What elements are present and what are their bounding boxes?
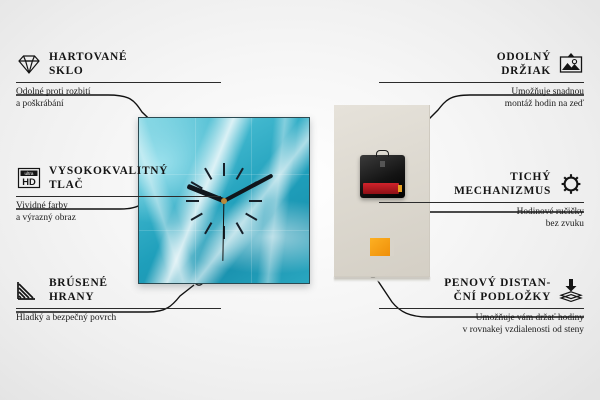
callout-divider (379, 308, 584, 309)
callout-title-line2: HRANY (49, 291, 94, 303)
callout-title-line1: ODOLNÝ (497, 51, 551, 63)
callout-desc-line1: Odolné proti rozbití (16, 87, 90, 97)
callout-durable-hanger: ODOLNÝ DRŽIAK Umožňuje snadnou montáž ho… (379, 50, 584, 110)
callout-title-line2: ČNÍ PODLOŽKY (454, 291, 551, 303)
brushed-edges-icon (16, 278, 42, 302)
foam-spacer-pad (370, 238, 390, 256)
callout-desc-line1: Vividné farby (16, 201, 68, 211)
picture-frame-hanger-icon (558, 52, 584, 76)
clock-center-cap (221, 198, 227, 204)
callout-title-line1: VYSOKOKVALITNÝ (49, 165, 168, 177)
callout-foam-spacers: PENOVÝ DISTAN- ČNÍ PODLOŽKY Umožňuje vám… (379, 276, 584, 336)
mechanism-hanger-lug (376, 150, 389, 157)
callout-title-line2: MECHANIZMUS (454, 185, 551, 197)
foam-spacer-icon (558, 278, 584, 302)
callout-desc-line1: Hladký a bezpečný povrch (16, 313, 116, 323)
callout-desc-line1: Umožňuje snadnou (511, 87, 584, 97)
foam-spacer-pad-side (390, 240, 394, 256)
callout-desc-line2: montáž hodin na zeď (505, 99, 584, 109)
callout-tempered-glass: HARTOVANÉ SKLO Odolné proti rozbití a po… (16, 50, 221, 110)
callout-divider (16, 82, 221, 83)
callout-high-quality-print: ultra HD VYSOKOKVALITNÝ TLAČ Vividné far… (16, 164, 221, 224)
callout-divider (379, 202, 584, 203)
callout-divider (379, 82, 584, 83)
callout-title-line1: HARTOVANÉ (49, 51, 127, 63)
callout-title-line2: SKLO (49, 65, 83, 77)
callout-divider (16, 308, 221, 309)
callout-divider (16, 196, 221, 197)
callout-desc-line1: Umožňuje vám držať hodiny (476, 313, 584, 323)
callout-title-line2: DRŽIAK (501, 65, 551, 77)
callout-title-line1: TICHÝ (510, 171, 551, 183)
callout-desc-line2: bez zvuku (546, 219, 584, 229)
callout-silent-mechanism: TICHÝ MECHANIZMUS Hodinové ručičky bez z… (379, 170, 584, 230)
callout-desc-line2: a poškrábání (16, 99, 64, 109)
mechanism-shaft (380, 161, 385, 167)
callout-desc-line1: Hodinové ručičky (517, 207, 584, 217)
callout-polished-edges: BRÚSENÉ HRANY Hladký a bezpečný povrch (16, 276, 221, 325)
gear-icon (558, 172, 584, 196)
callout-desc-line2: a výrazný obraz (16, 213, 76, 223)
diamond-icon (16, 52, 42, 76)
callout-title-line1: BRÚSENÉ (49, 277, 108, 289)
callout-title-line2: TLAČ (49, 179, 83, 191)
ultra-hd-icon: ultra HD (16, 166, 42, 190)
callout-title-line1: PENOVÝ DISTAN- (444, 277, 551, 289)
svg-text:HD: HD (22, 176, 36, 187)
callout-desc-line2: v rovnakej vzdialenosti od steny (463, 325, 584, 335)
